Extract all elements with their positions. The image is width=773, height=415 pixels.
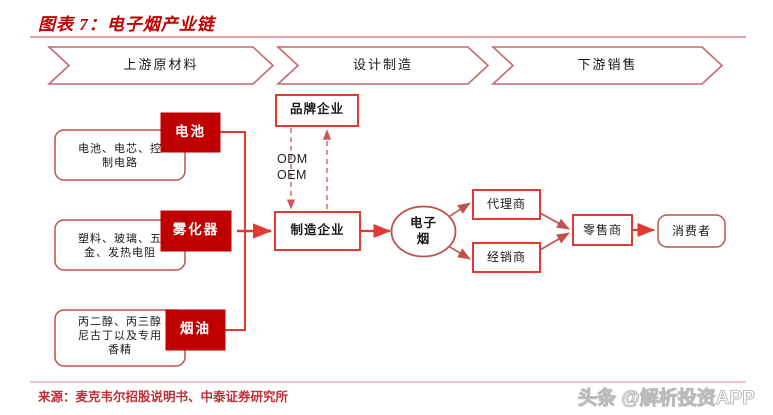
manufacturing-enterprise-box[interactable] xyxy=(275,212,360,250)
component-tag-0[interactable] xyxy=(161,113,220,152)
brand-enterprise-box[interactable] xyxy=(276,95,358,126)
distributor-box[interactable] xyxy=(473,243,540,272)
source-note: 来源：麦克韦尔招股说明书、中泰证券研究所 xyxy=(38,386,288,405)
agent-box[interactable] xyxy=(473,190,540,219)
band-downstream-sales[interactable] xyxy=(493,47,722,84)
watermark: 头条 @解析投资APP xyxy=(578,383,755,410)
component-tag-1[interactable] xyxy=(161,211,231,251)
component-tag-2[interactable] xyxy=(166,310,225,350)
retailer-box[interactable] xyxy=(573,215,632,245)
consumer-box[interactable] xyxy=(658,215,725,247)
diagram-vector-layer xyxy=(0,0,773,415)
figure-canvas: 图表 7：电子烟产业链 xyxy=(0,0,773,415)
product-ellipse[interactable] xyxy=(392,207,456,257)
band-upstream-raw-materials[interactable] xyxy=(49,47,273,84)
band-design-manufacturing[interactable] xyxy=(278,47,488,84)
